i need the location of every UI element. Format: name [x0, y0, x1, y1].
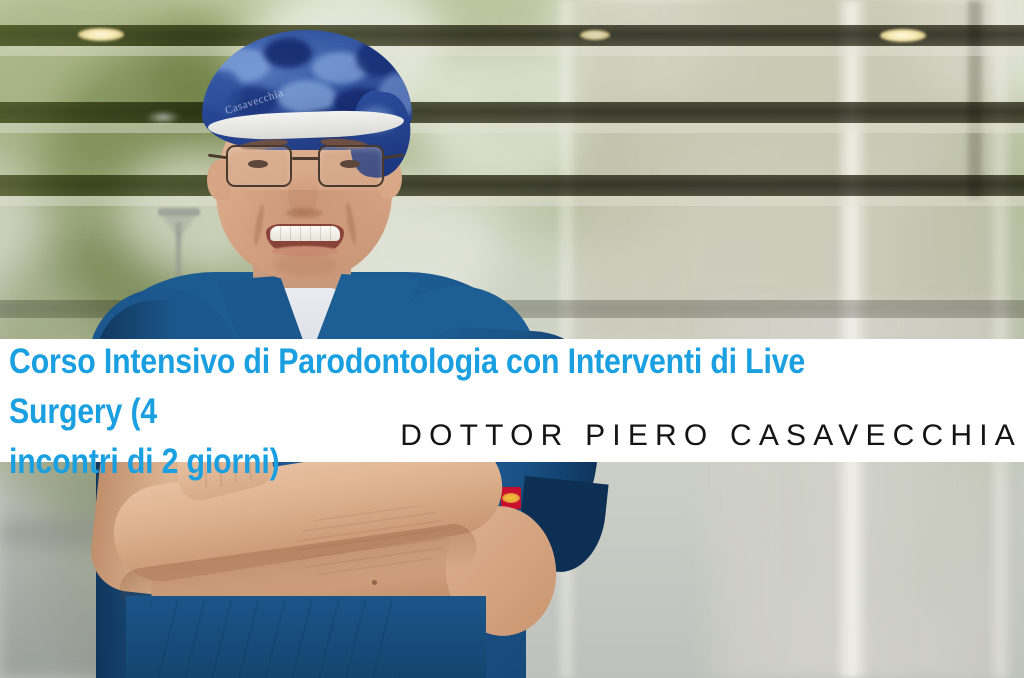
teeth: [270, 226, 340, 241]
chin-shadow: [274, 254, 336, 276]
course-banner: Casavecchia: [0, 0, 1024, 678]
cap-pattern-blob: [264, 38, 312, 68]
eyeglass-lens-right: [318, 145, 384, 187]
eyeglass-lens-left: [226, 145, 292, 187]
eyeglass-bridge: [292, 157, 320, 160]
cap-pattern-blob: [278, 80, 336, 114]
fabric-folds: [150, 600, 400, 678]
presenter-name: DOTTOR PIERO CASAVECCHIA: [400, 419, 1022, 453]
cap-pattern-blob: [356, 40, 400, 76]
course-title: Corso Intensivo di Parodontologia con In…: [9, 337, 887, 487]
nose-shadow: [286, 208, 322, 218]
skin-mole: [372, 580, 377, 585]
caption-band: Corso Intensivo di Parodontologia con In…: [0, 339, 1024, 462]
